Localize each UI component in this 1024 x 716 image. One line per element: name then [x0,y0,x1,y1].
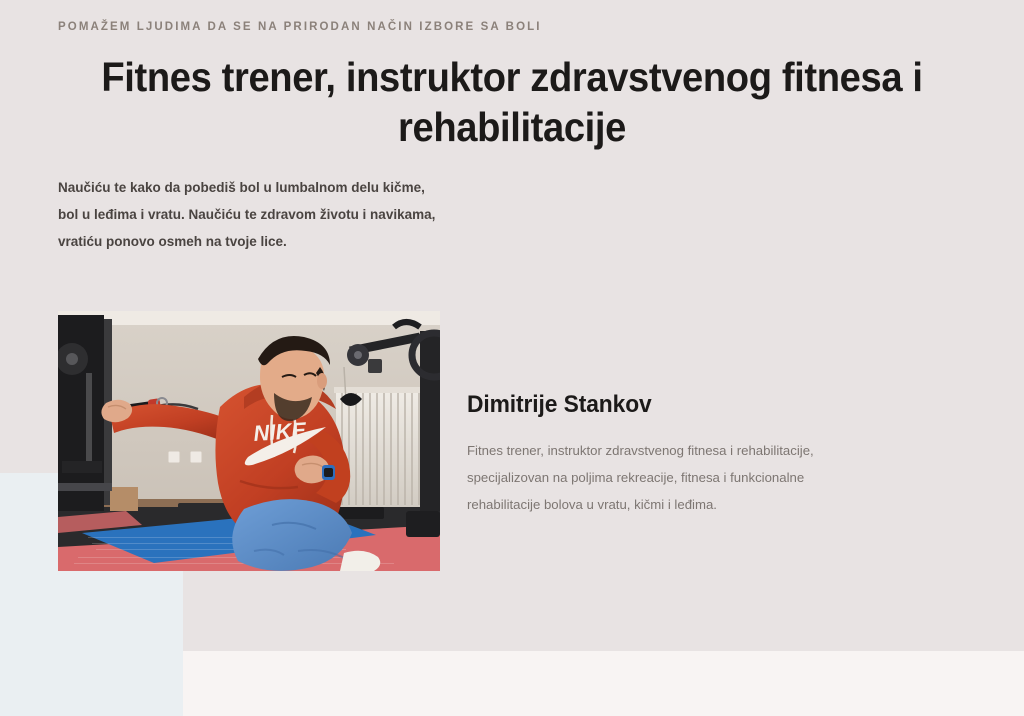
hero-eyebrow: Pomažem ljudima da se na prirodan način … [58,21,542,33]
trainer-description: Fitnes trener, instruktor zdravstvenog f… [467,437,839,518]
hero-lead-paragraph: Naučiću te kako da pobediš bol u lumbaln… [58,174,438,255]
page-root: Pomažem ljudima da se na prirodan način … [0,0,1024,716]
page-title: Fitnes trener, instruktor zdravstvenog f… [94,52,931,152]
trainer-photo-image: NIKE [58,311,440,571]
trainer-photo: NIKE [58,311,440,571]
trainer-name: Dimitrije Stankov [467,391,652,419]
